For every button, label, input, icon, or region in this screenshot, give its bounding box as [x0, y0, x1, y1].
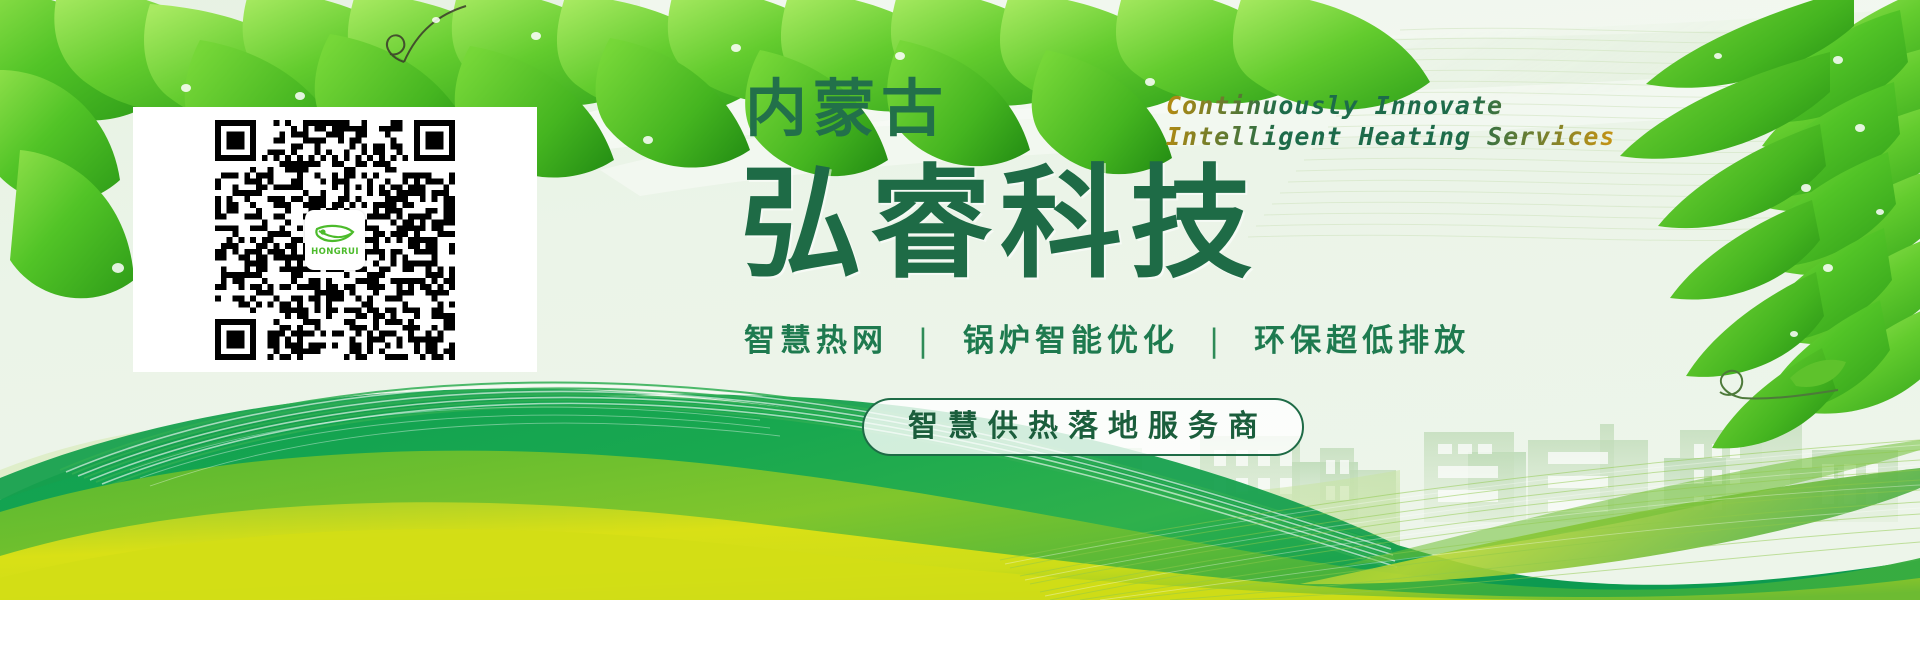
region-title: 内蒙古 [745, 78, 949, 140]
tagline-item-1: 智慧热网 [744, 323, 888, 359]
tagline-separator-2: | [1195, 323, 1238, 359]
english-slogan-line-1: Continuously Innovate [1166, 91, 1503, 120]
english-slogan: Continuously Innovate Intelligent Heatin… [1166, 90, 1615, 152]
promo-banner: HONGRUI 内蒙古 Continuously Innovate Intell… [0, 0, 1920, 600]
headline-text-block: 内蒙古 Continuously Innovate Intelligent He… [0, 0, 1920, 600]
tagline-item-3: 环保超低排放 [1254, 323, 1470, 359]
service-badge: 智慧供热落地服务商 [862, 398, 1304, 456]
page-footer-whitespace [0, 600, 1920, 659]
tagline-separator-1: | [904, 323, 947, 359]
service-badge-label: 智慧供热落地服务商 [898, 412, 1268, 442]
tagline-row: 智慧热网 | 锅炉智能优化 | 环保超低排放 [744, 326, 1470, 357]
english-slogan-line-2: Intelligent Heating Services [1166, 121, 1615, 152]
tagline-item-2: 锅炉智能优化 [963, 323, 1179, 359]
brand-title: 弘睿科技 [740, 160, 1260, 289]
